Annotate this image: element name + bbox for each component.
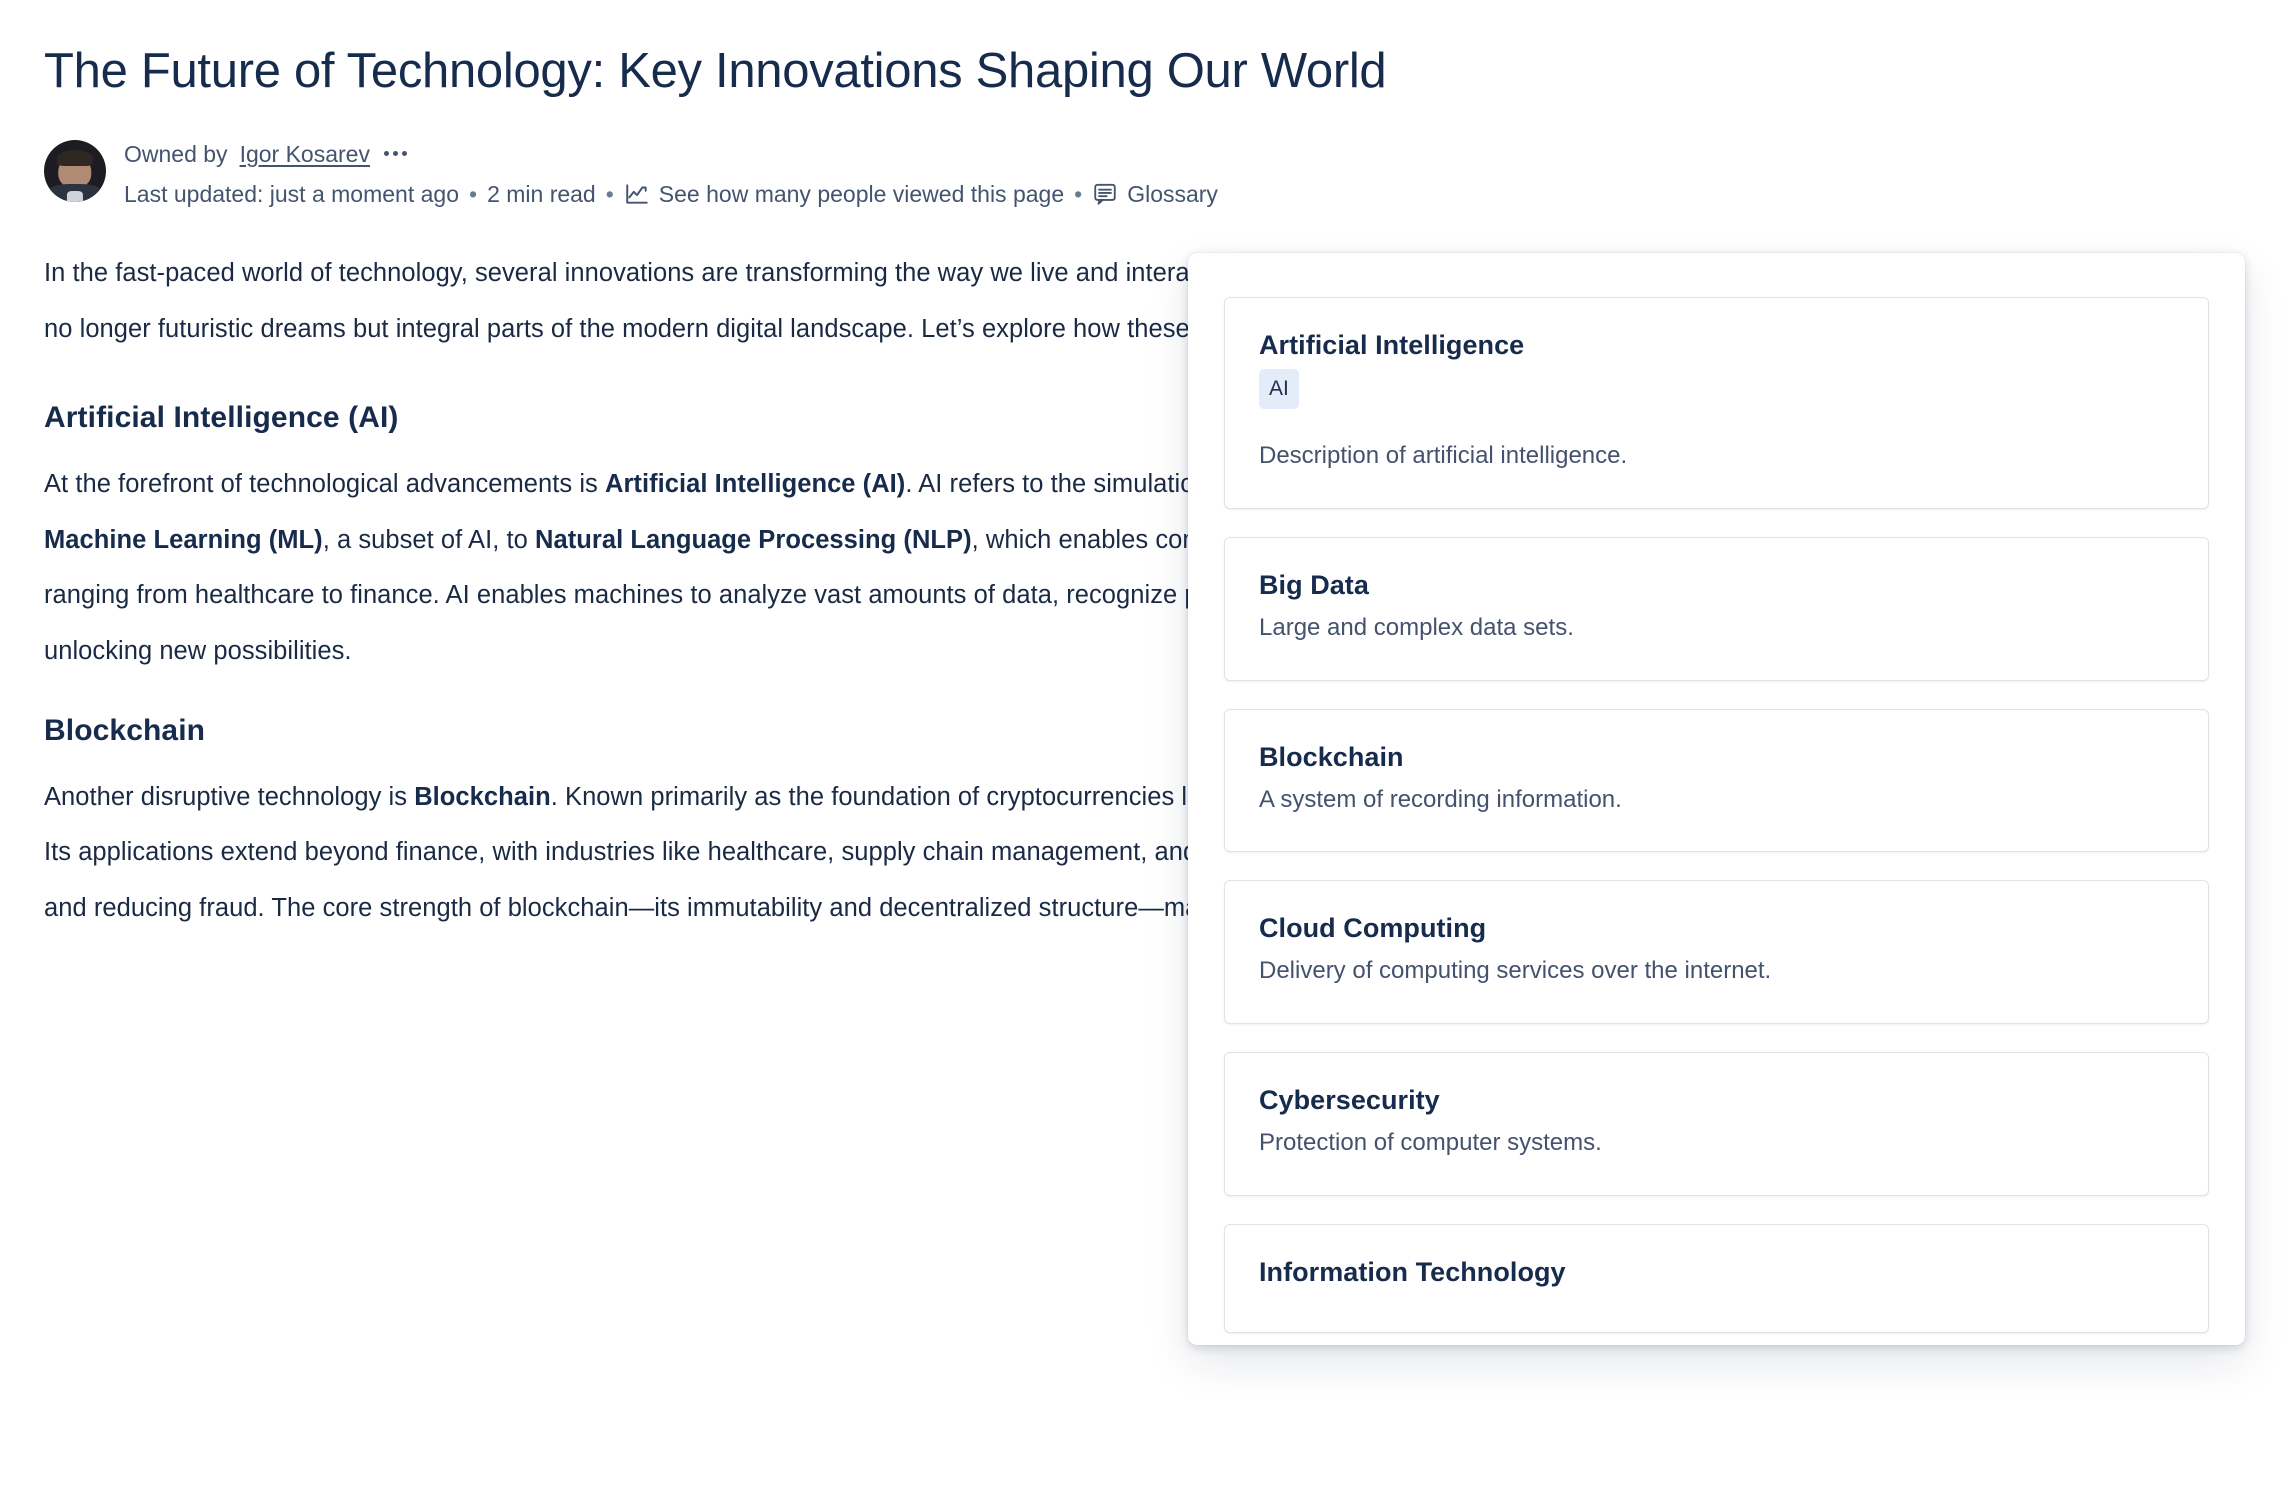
page-views-label: See how many people viewed this page (659, 178, 1064, 210)
owner-link[interactable]: Igor Kosarev (240, 138, 370, 170)
glossary-card[interactable]: Cloud Computing Delivery of computing se… (1224, 880, 2209, 1024)
bc-bold-blockchain: Blockchain (414, 783, 551, 811)
ai-seg-1: At the forefront of technological advanc… (44, 470, 605, 498)
page-title: The Future of Technology: Key Innovation… (44, 42, 2224, 102)
glossary-term: Cloud Computing (1259, 913, 2174, 944)
page-root: The Future of Technology: Key Innovation… (0, 0, 2290, 1492)
glossary-card[interactable]: Cybersecurity Protection of computer sys… (1224, 1052, 2209, 1196)
glossary-term: Artificial Intelligence (1259, 330, 2174, 361)
meta-separator-1: • (469, 178, 477, 210)
glossary-card[interactable]: Blockchain A system of recording informa… (1224, 709, 2209, 853)
avatar[interactable] (44, 140, 106, 202)
meta-separator-3: • (1074, 178, 1082, 210)
glossary-card[interactable]: Artificial Intelligence AI Description o… (1224, 297, 2209, 509)
glossary-term: Information Technology (1259, 1257, 2174, 1288)
glossary-description: Description of artificial intelligence. (1259, 439, 2174, 474)
glossary-description: Delivery of computing services over the … (1259, 954, 2174, 989)
byline: Owned by Igor Kosarev Last updated: just… (44, 136, 2224, 210)
glossary-scroll-area[interactable]: Artificial Intelligence AI Description o… (1188, 253, 2245, 1345)
glossary-card[interactable]: Information Technology (1224, 1224, 2209, 1333)
chart-icon (624, 181, 650, 207)
glossary-description: A system of recording information. (1259, 783, 2174, 818)
glossary-link[interactable]: Glossary (1092, 178, 1218, 210)
page-views-link[interactable]: See how many people viewed this page (624, 178, 1064, 210)
ai-bold-nlp: Natural Language Processing (NLP) (535, 526, 972, 554)
glossary-tag-badge: AI (1259, 369, 1299, 409)
ai-bold-ml: Machine Learning (ML) (44, 526, 323, 554)
ai-bold-ai: Artificial Intelligence (AI) (605, 470, 905, 498)
bc-seg-1: Another disruptive technology is (44, 783, 414, 811)
read-time-text: 2 min read (487, 178, 596, 210)
glossary-description: Protection of computer systems. (1259, 1126, 2174, 1161)
meta-separator-2: • (606, 178, 614, 210)
intro-seg-1: In the fast-paced world of technology, s… (44, 259, 1385, 287)
glossary-icon (1092, 181, 1118, 207)
byline-owner-row: Owned by Igor Kosarev (124, 138, 1218, 170)
last-updated-text: Last updated: just a moment ago (124, 178, 459, 210)
ai-seg-3: , a subset of AI, to (323, 526, 535, 554)
glossary-panel[interactable]: Artificial Intelligence AI Description o… (1188, 253, 2245, 1345)
glossary-description: Large and complex data sets. (1259, 611, 2174, 646)
glossary-term: Blockchain (1259, 742, 2174, 773)
owned-by-label: Owned by (124, 138, 228, 170)
glossary-term: Cybersecurity (1259, 1085, 2174, 1116)
byline-meta-row: Last updated: just a moment ago • 2 min … (124, 178, 1218, 210)
glossary-card[interactable]: Big Data Large and complex data sets. (1224, 537, 2209, 681)
more-actions-icon[interactable] (382, 149, 409, 158)
glossary-term: Big Data (1259, 570, 2174, 601)
byline-lines: Owned by Igor Kosarev Last updated: just… (124, 136, 1218, 210)
glossary-label: Glossary (1127, 178, 1218, 210)
